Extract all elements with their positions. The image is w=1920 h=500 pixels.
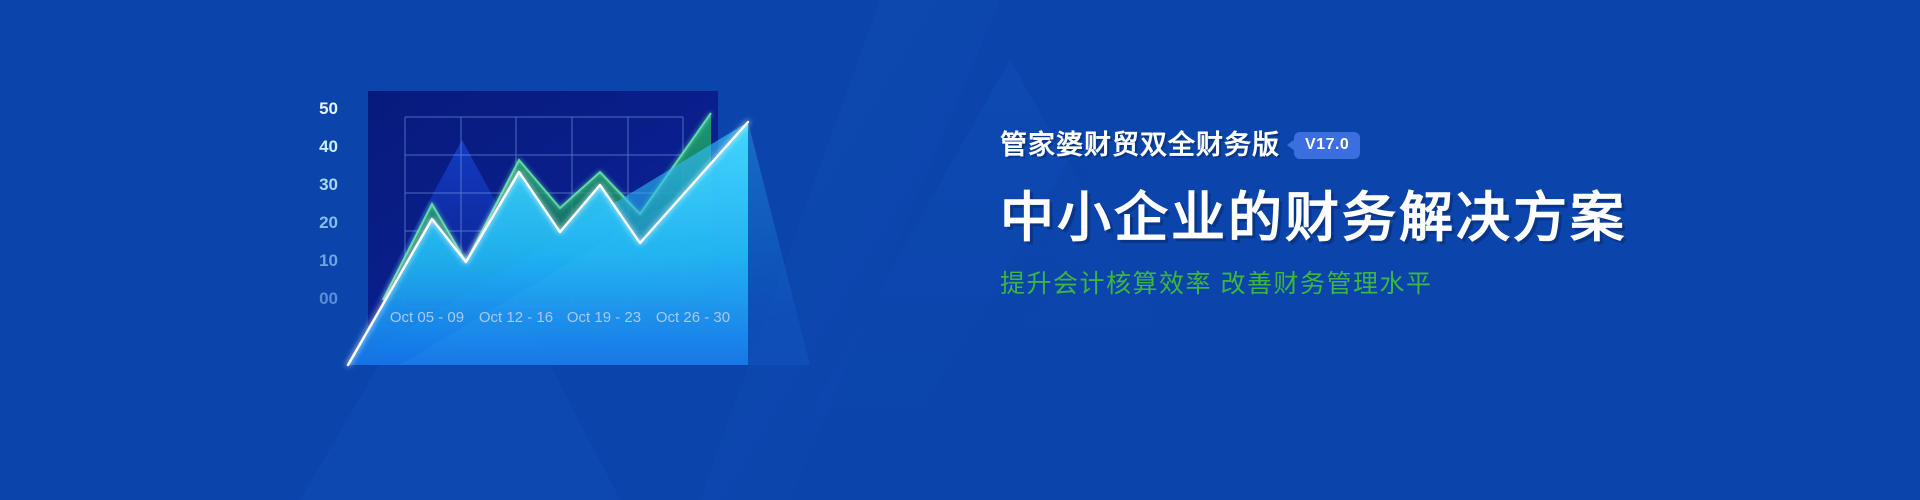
y-tick-10: 10: [319, 251, 338, 270]
headline: 中小企业的财务解决方案: [1000, 186, 1720, 250]
y-tick-50: 50: [319, 99, 338, 118]
y-tick-40: 40: [319, 137, 338, 156]
x-tick-1: Oct 12 - 16: [479, 309, 553, 326]
promo-banner: 50 40 30 20 10 00 Oct 05 - 09 Oct 12 - 1…: [0, 0, 1920, 500]
chart-illustration: 50 40 30 20 10 00 Oct 05 - 09 Oct 12 - 1…: [0, 0, 1100, 500]
banner-text-block: 管家婆财贸双全财务版 V17.0 中小企业的财务解决方案 提升会计核算效率 改善…: [1000, 128, 1720, 368]
brand-name: 管家婆财贸双全财务版: [1000, 128, 1280, 162]
x-tick-0: Oct 05 - 09: [390, 309, 464, 326]
version-badge: V17.0: [1294, 132, 1360, 159]
y-tick-00: 00: [319, 289, 338, 308]
y-tick-20: 20: [319, 213, 338, 232]
x-tick-2: Oct 19 - 23: [567, 309, 641, 326]
x-tick-3: Oct 26 - 30: [656, 309, 730, 326]
brand-row: 管家婆财贸双全财务版 V17.0: [1000, 128, 1720, 162]
y-axis-labels: 50 40 30 20 10 00: [319, 99, 338, 308]
subheadline: 提升会计核算效率 改善财务管理水平: [1000, 268, 1720, 300]
y-tick-30: 30: [319, 175, 338, 194]
